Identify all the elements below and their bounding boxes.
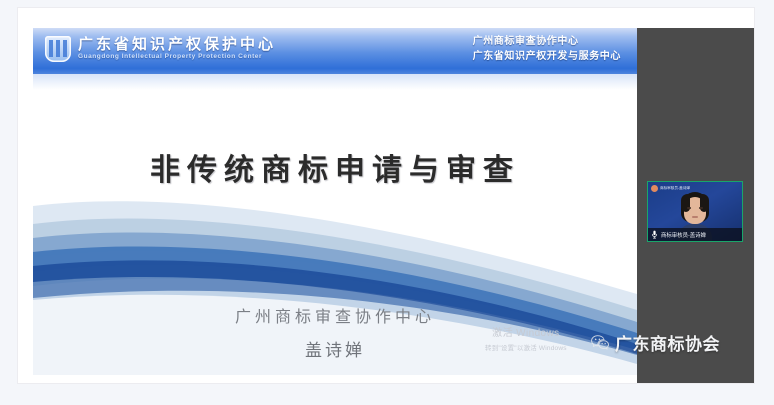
banner-right-line-2: 广东省知识产权开发与服务中心 bbox=[473, 50, 621, 65]
organization-name-cn: 广东省知识产权保护中心 bbox=[78, 37, 276, 53]
participant-name-label: 商标审核员-盖诗婵 bbox=[661, 231, 706, 239]
shared-slide[interactable]: 广东省知识产权保护中心 Guangdong Intellectual Prope… bbox=[33, 28, 637, 375]
slide-banner-fade bbox=[33, 74, 637, 90]
banner-right-line-1: 广州商标审查协作中心 bbox=[473, 35, 621, 50]
banner-right-titles: 广州商标审查协作中心 广东省知识产权开发与服务中心 bbox=[473, 35, 621, 64]
participant-video-tile[interactable]: 商标审核员-盖诗婵 bbox=[647, 181, 743, 242]
slide-subtitle-organization: 广州商标审查协作中心 bbox=[33, 303, 637, 327]
organization-logo-group: 广东省知识产权保护中心 Guangdong Intellectual Prope… bbox=[45, 36, 276, 62]
organization-name-en: Guangdong Intellectual Property Protecti… bbox=[78, 54, 276, 61]
shield-emblem-icon bbox=[45, 36, 71, 62]
slide-presenter-name: 盖诗婵 bbox=[33, 336, 637, 361]
screen-root: 广东省知识产权保护中心 Guangdong Intellectual Prope… bbox=[0, 0, 774, 405]
microphone-icon bbox=[651, 230, 658, 239]
participant-name-bar: 商标审核员-盖诗婵 bbox=[648, 228, 742, 241]
organization-logo-text: 广东省知识产权保护中心 Guangdong Intellectual Prope… bbox=[78, 37, 276, 62]
screen-share-viewer: 广东省知识产权保护中心 Guangdong Intellectual Prope… bbox=[18, 8, 754, 383]
meeting-participant-panel[interactable]: 商标审核员-盖诗婵 bbox=[637, 28, 754, 383]
participant-top-chip: 商标审核员-盖诗婵 bbox=[651, 185, 690, 192]
avatar bbox=[651, 185, 658, 192]
participant-top-chip-label: 商标审核员-盖诗婵 bbox=[660, 186, 690, 191]
slide-subtitle-block: 广州商标审查协作中心 盖诗婵 bbox=[33, 303, 637, 361]
